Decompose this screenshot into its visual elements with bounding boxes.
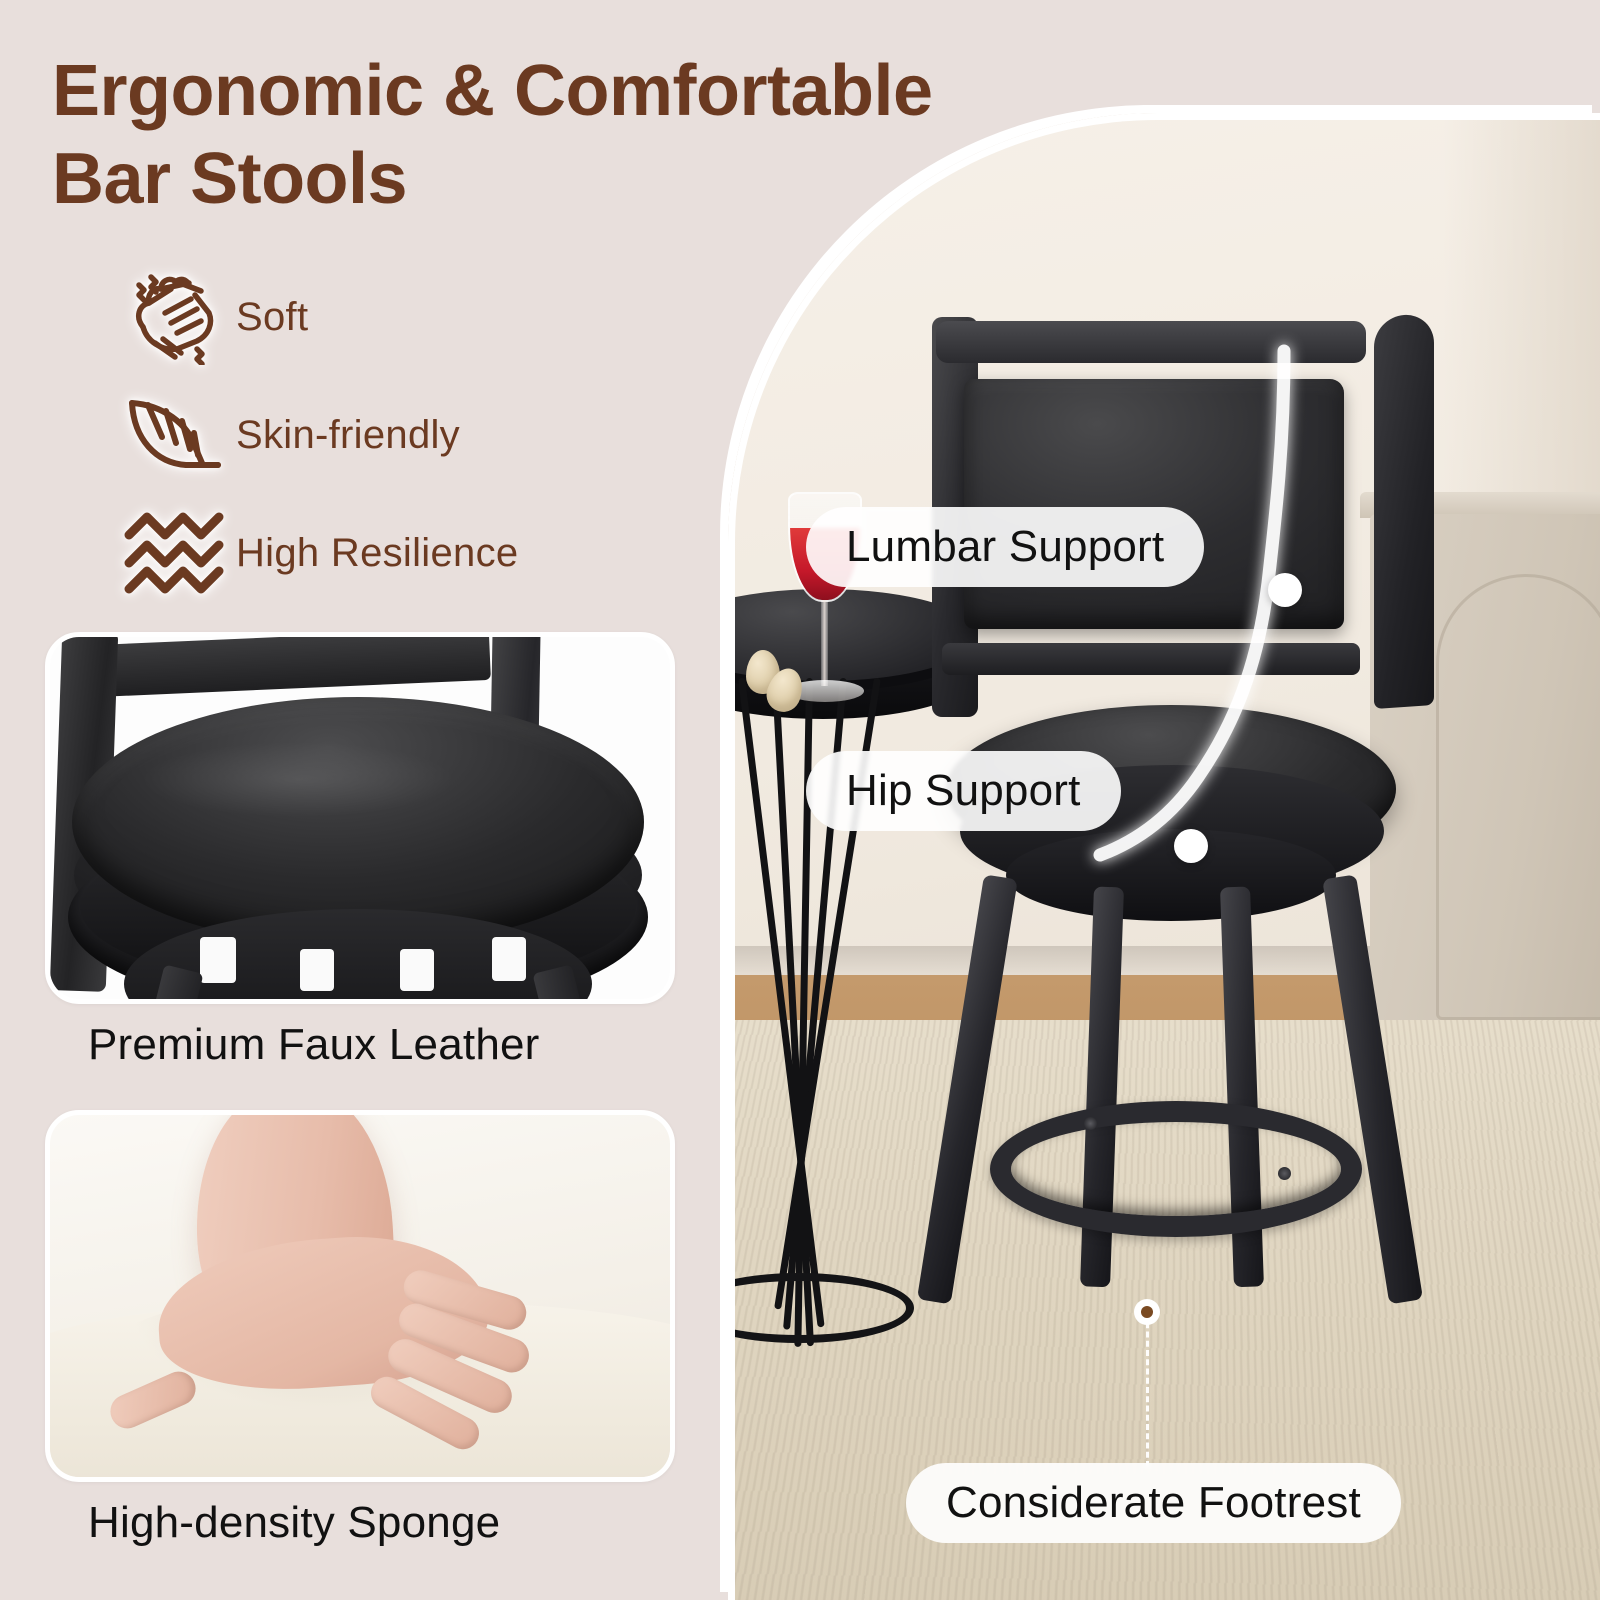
footrest-leader-line (1146, 1313, 1149, 1467)
feature-item-soft: Soft (118, 258, 638, 376)
sponge-photo (50, 1115, 670, 1477)
infographic-canvas: Ergonomic & Comfortable Bar Stools Soft (0, 0, 1600, 1600)
zigzag-resilience-icon (118, 501, 236, 605)
hip-support-dot (1174, 829, 1208, 863)
soft-hand-icon (118, 265, 236, 369)
callout-hip-support[interactable]: Hip Support (806, 751, 1121, 831)
faux-leather-card (45, 632, 675, 1004)
lumbar-support-dot (1268, 573, 1302, 607)
faux-leather-photo (50, 637, 670, 999)
faux-leather-caption: Premium Faux Leather (88, 1020, 540, 1070)
feature-label-soft: Soft (236, 295, 308, 340)
callout-considerate-footrest[interactable]: Considerate Footrest (906, 1463, 1401, 1543)
bar-stool-room-photo: Lumbar Support Hip Support Considerate F… (728, 113, 1600, 1600)
feature-label-skin-friendly: Skin-friendly (236, 413, 460, 458)
feature-item-skin-friendly: Skin-friendly (118, 376, 638, 494)
feature-list: Soft Skin-friendly High R (118, 258, 638, 612)
feature-label-high-resilience: High Resilience (236, 531, 518, 576)
feature-item-high-resilience: High Resilience (118, 494, 638, 612)
sponge-caption: High-density Sponge (88, 1498, 500, 1548)
callout-lumbar-support[interactable]: Lumbar Support (806, 507, 1204, 587)
ergonomic-support-curve (728, 113, 1600, 1600)
sponge-card (45, 1110, 675, 1482)
footrest-marker-dot (1134, 1299, 1160, 1325)
feather-icon (118, 383, 236, 487)
